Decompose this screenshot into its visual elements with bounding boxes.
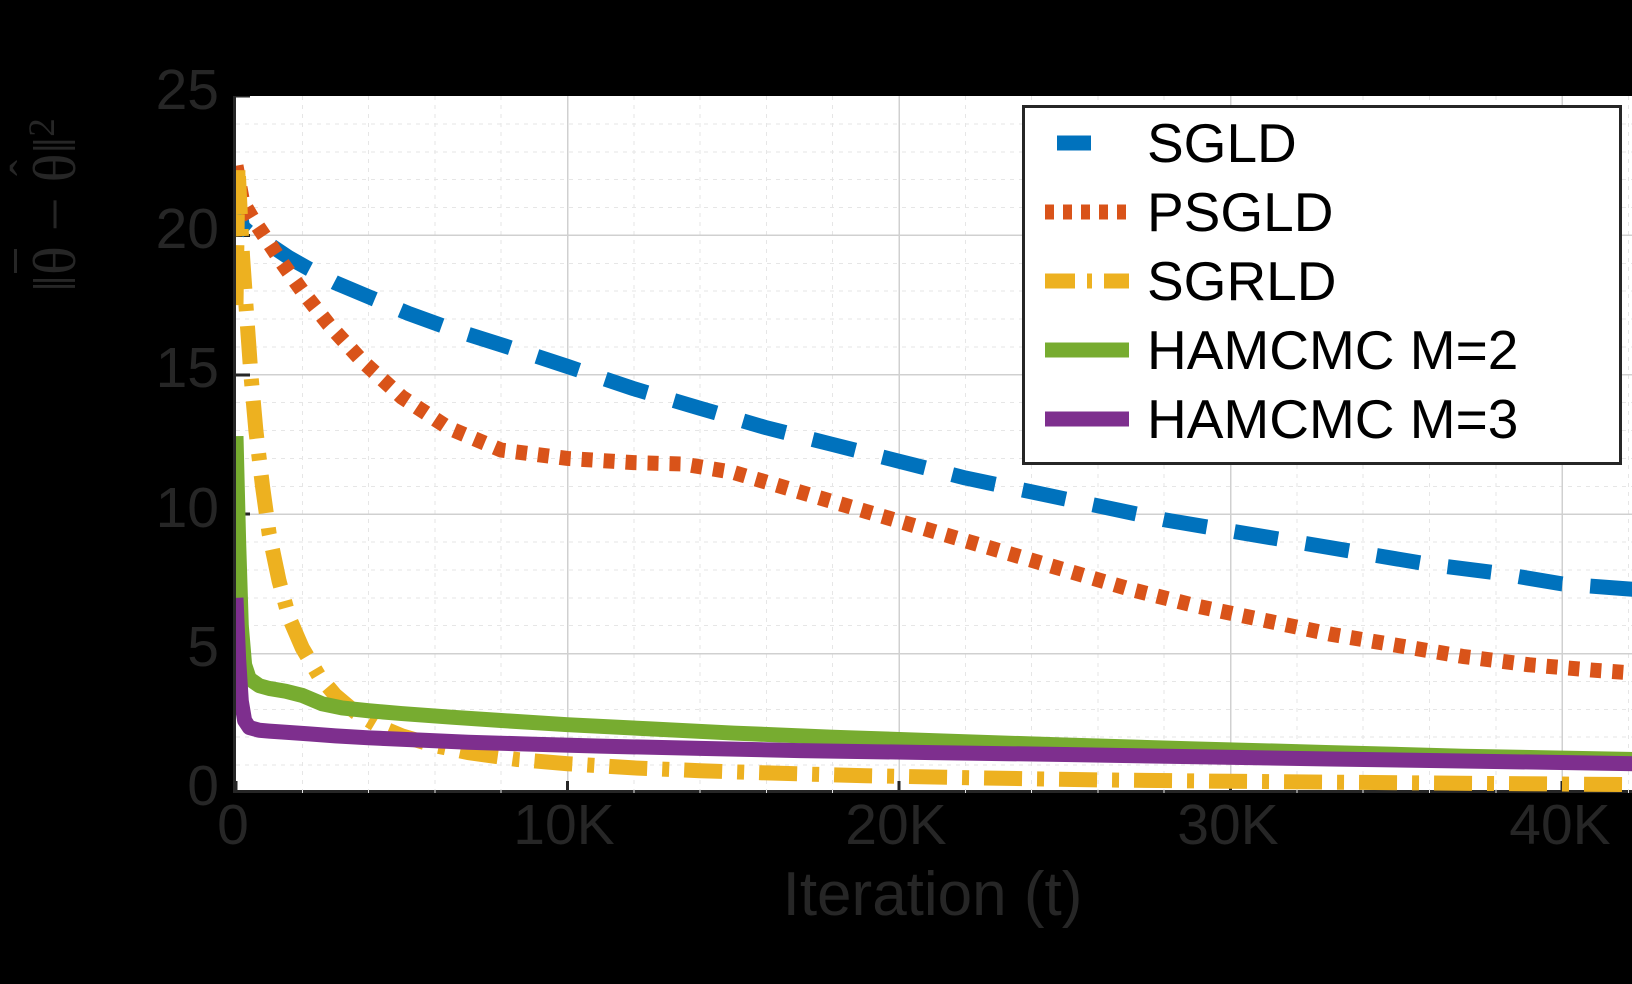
x-tick-label: 0 <box>173 795 293 855</box>
x-tick-label: 40K <box>1460 795 1632 855</box>
y-axis-label-wrapper: ‖θ − θ̂‖2 <box>8 0 78 440</box>
figure-canvas: 25 20 15 10 5 0 0 10K 20K 30K 40K Iterat… <box>0 0 1632 984</box>
legend-key-sgld <box>1041 134 1133 152</box>
legend-label-psgld: PSGLD <box>1147 183 1333 241</box>
x-tick-label: 10K <box>464 795 664 855</box>
legend-key-hamcmc-m2 <box>1041 341 1133 359</box>
theta-hat: θ̂ <box>20 154 90 183</box>
legend-item-psgld[interactable]: PSGLD <box>1025 177 1619 246</box>
legend-box: SGLD PSGLD SGRLD HAMCMC M=2 HAMCMC M=3 <box>1022 105 1622 465</box>
legend-key-sgrld <box>1041 272 1133 290</box>
x-axis-label: Iteration (t) <box>233 860 1632 930</box>
legend-label-hamcmc-m2: HAMCMC M=2 <box>1147 321 1518 379</box>
legend-item-sgrld[interactable]: SGRLD <box>1025 246 1619 315</box>
y-tick-label: 10 <box>156 480 219 537</box>
legend-key-hamcmc-m3 <box>1041 410 1133 428</box>
y-tick-label: 20 <box>156 201 219 258</box>
legend-label-sgrld: SGRLD <box>1147 252 1337 310</box>
y-axis-label: ‖θ − θ̂‖2 <box>8 0 90 440</box>
legend-key-psgld <box>1041 203 1133 221</box>
legend-label-hamcmc-m3: HAMCMC M=3 <box>1147 390 1518 448</box>
exponent-two: 2 <box>22 118 63 137</box>
legend-item-hamcmc-m2[interactable]: HAMCMC M=2 <box>1025 315 1619 384</box>
y-tick-label: 15 <box>156 340 219 397</box>
y-tick-label: 5 <box>187 619 219 676</box>
legend-item-hamcmc-m3[interactable]: HAMCMC M=3 <box>1025 384 1619 453</box>
theta-bar: θ <box>20 246 90 275</box>
legend-label-sgld: SGLD <box>1147 114 1297 172</box>
y-tick-label: 25 <box>156 62 219 119</box>
legend-item-sgld[interactable]: SGLD <box>1025 108 1619 177</box>
x-tick-label: 30K <box>1128 795 1328 855</box>
x-tick-label: 20K <box>796 795 996 855</box>
